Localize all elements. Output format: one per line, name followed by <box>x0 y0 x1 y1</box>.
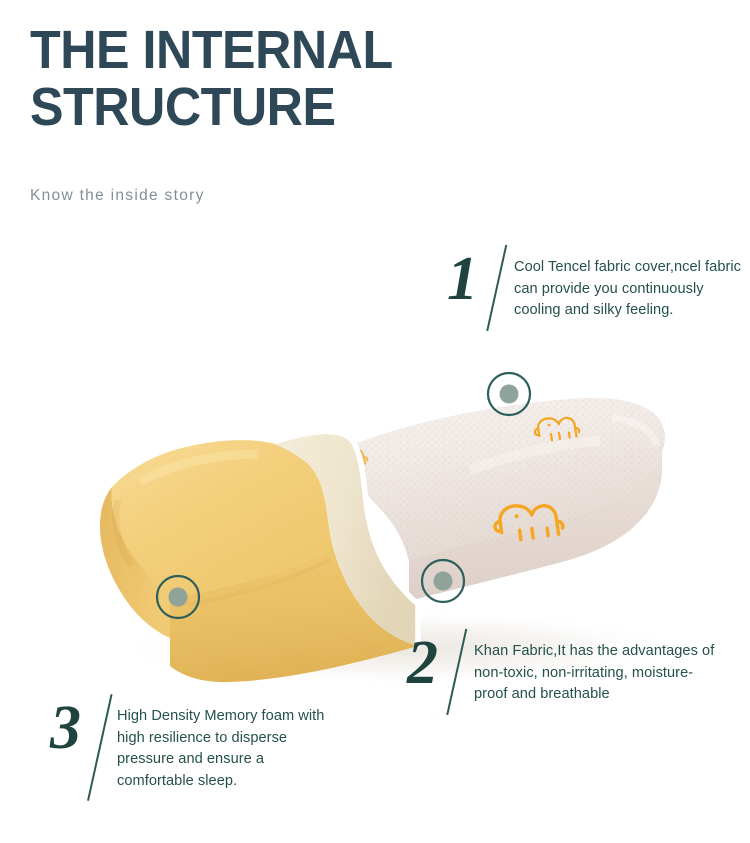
elephant-motif-edge <box>329 446 368 472</box>
callout-1-text: Cool Tencel fabric cover,ncel fabric can… <box>514 248 742 322</box>
callout-2: 2 Khan Fabric,It has the advantages of n… <box>407 632 722 706</box>
callout-1-slash-icon <box>480 248 514 322</box>
header: THE INTERNAL STRUCTURE Know the inside s… <box>30 22 710 136</box>
callout-2-slash-icon <box>440 632 474 706</box>
page-subtitle: Know the inside story <box>30 187 205 205</box>
marker-2[interactable] <box>422 560 464 602</box>
elephant-motif-group <box>329 414 580 543</box>
callout-2-number: 2 <box>407 632 438 694</box>
callout-3: 3 High Density Memory foam with high res… <box>50 697 342 792</box>
layer-outer-cover <box>330 398 665 601</box>
marker-1[interactable] <box>488 373 530 415</box>
callout-3-number: 3 <box>50 697 81 759</box>
callout-3-text: High Density Memory foam with high resil… <box>117 697 342 792</box>
layer-memory-foam <box>100 440 418 682</box>
callout-1: 1 Cool Tencel fabric cover,ncel fabric c… <box>447 248 742 322</box>
elephant-motif-large <box>492 500 564 543</box>
callout-1-number: 1 <box>447 248 478 310</box>
elephant-motif-small <box>533 414 580 443</box>
marker-3[interactable] <box>157 576 199 618</box>
page-title: THE INTERNAL STRUCTURE <box>30 22 662 136</box>
callout-2-text: Khan Fabric,It has the advantages of non… <box>474 632 722 706</box>
infographic-page: THE INTERNAL STRUCTURE Know the inside s… <box>0 0 750 843</box>
layer-khan-fabric <box>272 432 418 646</box>
callout-3-slash-icon <box>83 697 117 792</box>
